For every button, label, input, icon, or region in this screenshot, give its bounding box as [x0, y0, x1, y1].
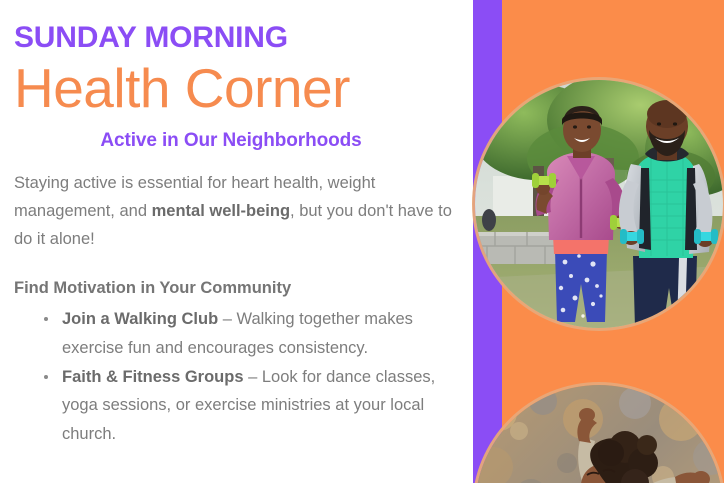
list-item: Faith & Fitness Groups – Look for dance …: [44, 363, 456, 448]
community-tips-list: Join a Walking Club – Walking together m…: [14, 299, 456, 448]
page-title: Health Corner: [14, 54, 456, 116]
list-item-term: Faith & Fitness Groups: [62, 368, 244, 386]
health-corner-flyer: SUNDAY MORNING Health Corner Active in O…: [0, 0, 724, 483]
article-content: SUNDAY MORNING Health Corner Active in O…: [0, 0, 470, 483]
list-item: Join a Walking Club – Walking together m…: [44, 305, 456, 362]
intro-emphasis: mental well-being: [152, 202, 290, 220]
couple-walking-with-dumbbells-photo: [475, 80, 723, 328]
woman-stretching-outdoors-photo: [475, 385, 723, 483]
intro-paragraph: Staying active is essential for heart he…: [14, 152, 456, 254]
list-item-term: Join a Walking Club: [62, 310, 218, 328]
page-subtitle: Active in Our Neighborhoods: [14, 116, 456, 152]
eyebrow-label: SUNDAY MORNING: [14, 0, 456, 54]
community-section-heading: Find Motivation in Your Community: [14, 254, 456, 299]
photo-top-artwork: [475, 80, 723, 328]
photo-bottom-artwork: [475, 385, 723, 483]
